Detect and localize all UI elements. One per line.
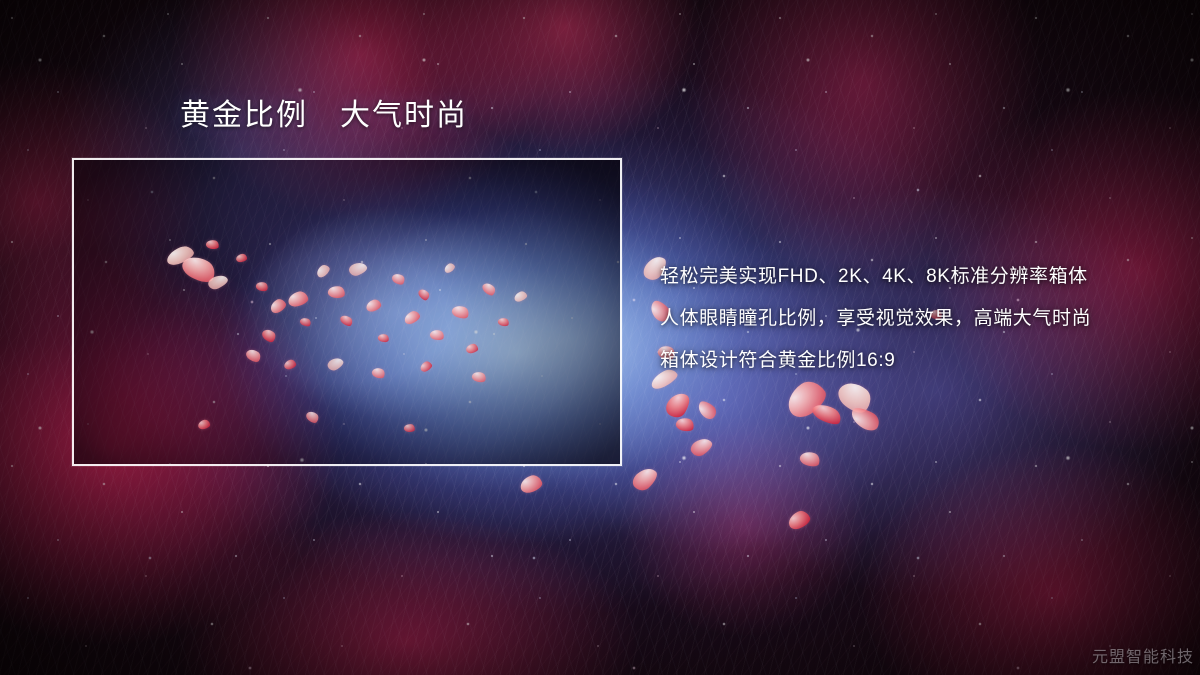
framed-nebula-wisps [74, 160, 620, 464]
petal [695, 398, 719, 422]
petal [848, 404, 883, 434]
description-line-3: 箱体设计符合黄金比例16:9 [660, 340, 1180, 382]
petal [781, 375, 831, 422]
framed-nebula-red [74, 160, 620, 464]
petal [798, 449, 821, 468]
description-line-2: 人体眼睛瞳孔比例，享受视觉效果，高端大气时尚 [660, 298, 1180, 340]
petal [662, 389, 693, 422]
petal [786, 508, 813, 532]
framed-starfield [74, 160, 620, 464]
slide-canvas: 黄金比例 大气时尚 轻松完美实现FHD、2K、4K、8K标准分辨率箱体 人体眼睛… [0, 0, 1200, 675]
framed-starfield-big [74, 160, 620, 464]
petal [810, 400, 844, 428]
petal [518, 473, 544, 495]
photo-frame[interactable] [72, 158, 622, 466]
description-block: 轻松完美实现FHD、2K、4K、8K标准分辨率箱体 人体眼睛瞳孔比例，享受视觉效… [660, 256, 1180, 382]
framed-nebula-blue [74, 160, 620, 464]
page-title: 黄金比例 大气时尚 [180, 101, 468, 131]
framed-nebula-image [74, 160, 620, 464]
petal [675, 416, 696, 433]
petal [688, 435, 715, 459]
photo-frame-inner [74, 160, 620, 464]
framed-nebula-base [74, 160, 620, 464]
watermark: 元盟智能科技 [1092, 643, 1194, 667]
description-line-1: 轻松完美实现FHD、2K、4K、8K标准分辨率箱体 [660, 256, 1180, 298]
petal [834, 376, 877, 418]
petal [629, 464, 660, 495]
